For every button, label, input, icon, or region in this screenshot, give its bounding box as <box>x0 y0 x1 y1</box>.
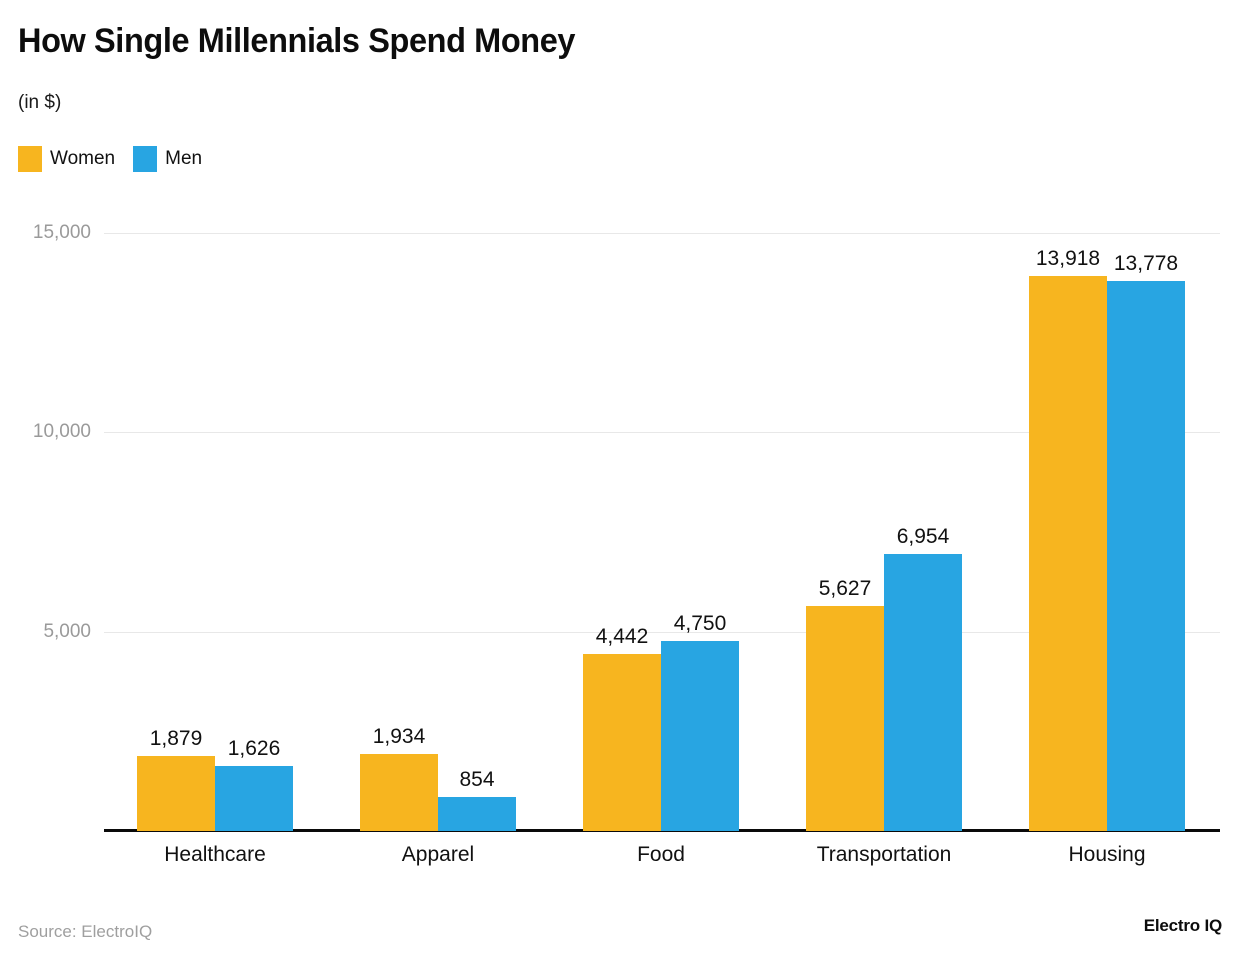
category-label-transportation: Transportation <box>817 843 952 867</box>
bar-value-label: 5,627 <box>819 577 872 601</box>
category-label-housing: Housing <box>1068 843 1145 867</box>
plot-area: 5,00010,00015,000 1,8791,6261,9348544,44… <box>0 0 1240 964</box>
bar-value-label: 13,918 <box>1036 247 1100 271</box>
bar-value-label: 1,879 <box>150 727 203 751</box>
bar-men-apparel[interactable] <box>438 797 516 831</box>
bar-women-food[interactable] <box>583 654 661 831</box>
category-label-apparel: Apparel <box>402 843 474 867</box>
bar-women-healthcare[interactable] <box>137 756 215 831</box>
category-label-food: Food <box>637 843 685 867</box>
bar-men-healthcare[interactable] <box>215 766 293 831</box>
bar-women-transportation[interactable] <box>806 606 884 831</box>
source-note: Source: ElectroIQ <box>18 922 152 942</box>
bar-series-layer: 1,8791,6261,9348544,4424,7505,6276,95413… <box>0 0 1240 964</box>
bar-value-label: 854 <box>459 768 494 792</box>
bar-value-label: 13,778 <box>1114 252 1178 276</box>
bar-value-label: 6,954 <box>897 525 950 549</box>
bar-women-apparel[interactable] <box>360 754 438 831</box>
bar-value-label: 1,934 <box>373 725 426 749</box>
bar-men-transportation[interactable] <box>884 554 962 831</box>
bar-men-housing[interactable] <box>1107 281 1185 831</box>
chart-page: How Single Millennials Spend Money (in $… <box>0 0 1240 964</box>
bar-women-housing[interactable] <box>1029 276 1107 831</box>
bar-value-label: 4,750 <box>674 612 727 636</box>
bar-value-label: 1,626 <box>228 737 281 761</box>
category-label-healthcare: Healthcare <box>164 843 266 867</box>
bar-value-label: 4,442 <box>596 625 649 649</box>
brand-mark: Electro IQ <box>1144 916 1222 936</box>
bar-men-food[interactable] <box>661 641 739 831</box>
